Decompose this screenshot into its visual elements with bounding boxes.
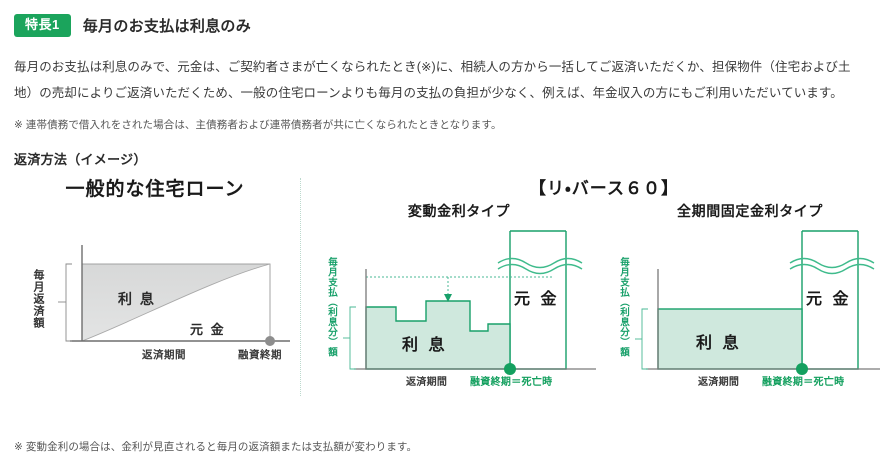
feature-badge: 特長1	[14, 14, 71, 37]
variable-measure-bracket	[350, 307, 356, 369]
fixed-principal-label: 元 金	[806, 285, 851, 309]
repayment-diagrams: 【リ・バース６０】 一般的な住宅ローン	[14, 174, 866, 409]
section-divider	[300, 178, 301, 396]
feature-heading: 特長1 毎月のお支払は利息のみ	[14, 0, 866, 37]
variable-end-label: 融資終期＝死亡時	[470, 373, 552, 388]
fixed-measure-bracket	[642, 309, 648, 369]
section-title: 返済方法（イメージ）	[14, 149, 866, 168]
variable-rate-svg	[314, 221, 604, 386]
document-page: 特長1 毎月のお支払は利息のみ 毎月のお支払は利息のみで、元金は、ご契約者さまが…	[0, 0, 880, 470]
fixed-y-axis-label: 毎月支払（利息分）額	[616, 257, 630, 357]
variable-principal-label: 元 金	[514, 285, 559, 309]
chart-fixed-rate-title: 全期間固定金利タイプ	[606, 201, 880, 221]
general-measure-bracket	[66, 264, 72, 341]
page-title: 毎月のお支払は利息のみ	[83, 15, 251, 36]
paragraph-footnote: ※ 連帯債務で借入れをされた場合は、主債務者および連帯債務者が共に亡くなられたと…	[14, 117, 866, 134]
chart-fixed-rate: 全期間固定金利タイプ	[606, 174, 880, 386]
variable-interest-label: 利 息	[402, 331, 447, 355]
chart-variable-rate-canvas: 毎月支払（利息分）額 利 息 元 金 返済期間 融資終期＝死亡時	[314, 221, 604, 386]
general-interest-label: 利 息	[118, 289, 156, 309]
fixed-end-label: 融資終期＝死亡時	[762, 373, 844, 388]
general-end-label: 融資終期	[238, 347, 282, 362]
variable-y-axis-label: 毎月支払（利息分）額	[324, 257, 338, 357]
chart-general-loan-title: 一般的な住宅ローン	[14, 174, 296, 201]
general-end-dot	[265, 336, 275, 346]
chart-variable-rate-title: 変動金利タイプ	[314, 201, 604, 221]
general-y-axis-label: 毎月返済額	[30, 269, 46, 329]
variable-x-axis-label: 返済期間	[406, 373, 447, 388]
fixed-interest-label: 利 息	[696, 329, 741, 353]
chart-fixed-rate-canvas: 毎月支払（利息分）額 利 息 元 金 返済期間 融資終期＝死亡時	[606, 221, 880, 386]
general-principal-label: 元 金	[190, 319, 226, 338]
bottom-footnote: ※ 変動金利の場合は、金利が見直されると毎月の返済額または支払額が変わります。	[14, 439, 417, 454]
chart-variable-rate: 変動金利タイプ	[314, 174, 604, 386]
body-paragraph: 毎月のお支払は利息のみで、元金は、ご契約者さまが亡くなられたとき(※)に、相続人…	[14, 55, 866, 106]
chart-general-loan-canvas: 毎月返済額 利 息 元 金 返済期間 融資終期	[14, 201, 296, 396]
chart-general-loan: 一般的な住宅ローン	[14, 174, 296, 396]
fixed-x-axis-label: 返済期間	[698, 373, 739, 388]
general-x-axis-label: 返済期間	[142, 347, 186, 362]
